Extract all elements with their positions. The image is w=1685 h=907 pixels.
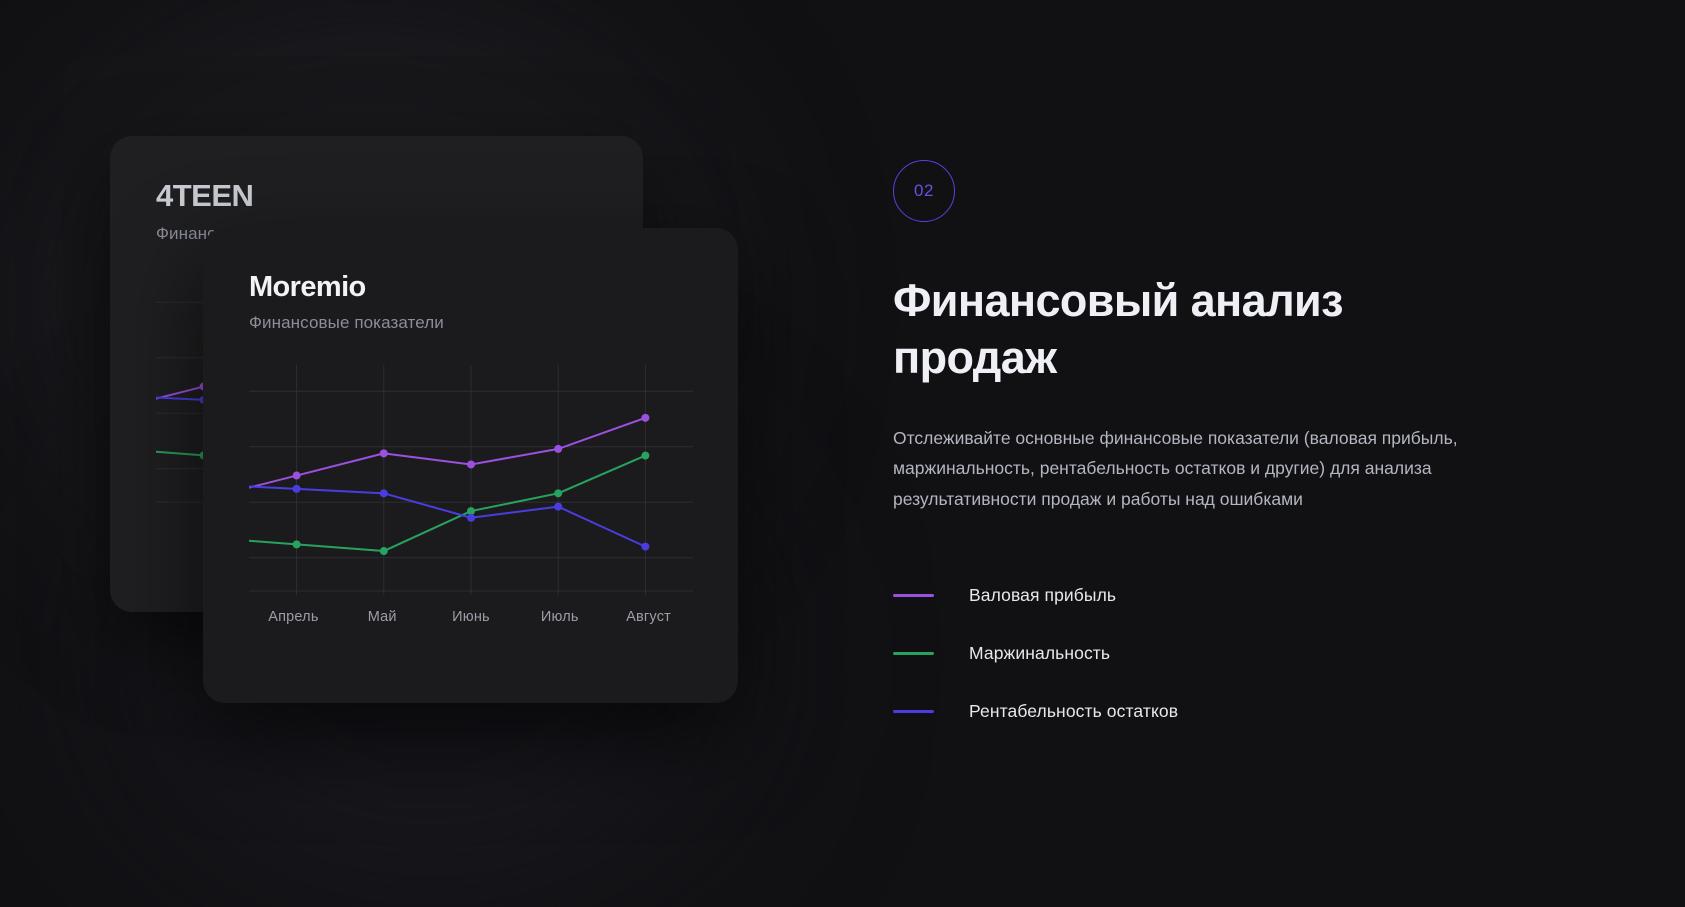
- legend-label-1: Маржинальность: [969, 643, 1110, 664]
- back-card-brand: 4TEEN: [156, 180, 597, 213]
- front-x-tick-0: Апрель: [249, 609, 338, 625]
- series-1-point-4[interactable]: [641, 452, 649, 460]
- legend-item-0[interactable]: Валовая прибыль: [893, 567, 1593, 625]
- front-chart-gridlines: [249, 365, 693, 595]
- front-x-tick-2: Июнь: [427, 609, 516, 625]
- dashboard-card-front[interactable]: Moremio Финансовые показатели АпрельМайИ…: [203, 228, 738, 703]
- legend-item-1[interactable]: Маржинальность: [893, 625, 1593, 683]
- slide-root: 4TEEN Финансовые показатели Апрель Morem…: [0, 0, 1685, 907]
- series-2-point-2[interactable]: [467, 514, 475, 522]
- series-1-point-1[interactable]: [380, 547, 388, 555]
- legend-swatch-2: [893, 710, 934, 713]
- front-card-brand: Moremio: [249, 272, 692, 302]
- legend-label-0: Валовая прибыль: [969, 585, 1116, 606]
- series-0-point-3[interactable]: [554, 445, 562, 453]
- series-2-point-0[interactable]: [293, 485, 301, 493]
- series-2-point-4[interactable]: [641, 543, 649, 551]
- series-0-point-2[interactable]: [467, 461, 475, 469]
- series-0-point-1[interactable]: [380, 450, 388, 458]
- series-2-point-1[interactable]: [380, 490, 388, 498]
- front-chart-svg: [249, 365, 693, 595]
- legend-swatch-1: [893, 652, 934, 655]
- legend-label-2: Рентабельность остатков: [969, 701, 1178, 722]
- series-2-point-3[interactable]: [554, 503, 562, 511]
- content-panel: 02 Финансовый анализ продаж Отслеживайте…: [893, 160, 1593, 741]
- step-badge: 02: [893, 160, 955, 222]
- series-0-point-0[interactable]: [293, 472, 301, 480]
- front-x-tick-4: Август: [604, 609, 693, 625]
- page-title: Финансовый анализ продаж: [893, 273, 1453, 386]
- front-card-subtitle: Финансовые показатели: [249, 313, 692, 333]
- series-line-0: [249, 418, 645, 488]
- series-1-point-3[interactable]: [554, 490, 562, 498]
- front-x-tick-1: Май: [338, 609, 427, 625]
- front-x-tick-3: Июль: [515, 609, 604, 625]
- front-chart-series: [249, 414, 649, 555]
- card-stack: 4TEEN Финансовые показатели Апрель Morem…: [0, 0, 800, 907]
- legend-swatch-0: [893, 594, 934, 597]
- chart-legend: Валовая прибыльМаржинальностьРентабельно…: [893, 567, 1593, 741]
- series-line-1: [249, 456, 645, 551]
- legend-item-2[interactable]: Рентабельность остатков: [893, 683, 1593, 741]
- step-badge-number: 02: [914, 181, 934, 201]
- series-line-2: [249, 487, 645, 547]
- front-card-chart: [249, 365, 693, 595]
- front-chart-x-axis: АпрельМайИюньИюльАвгуст: [249, 609, 693, 625]
- series-1-point-0[interactable]: [293, 541, 301, 549]
- series-0-point-4[interactable]: [641, 414, 649, 422]
- page-description: Отслеживайте основные финансовые показат…: [893, 423, 1548, 513]
